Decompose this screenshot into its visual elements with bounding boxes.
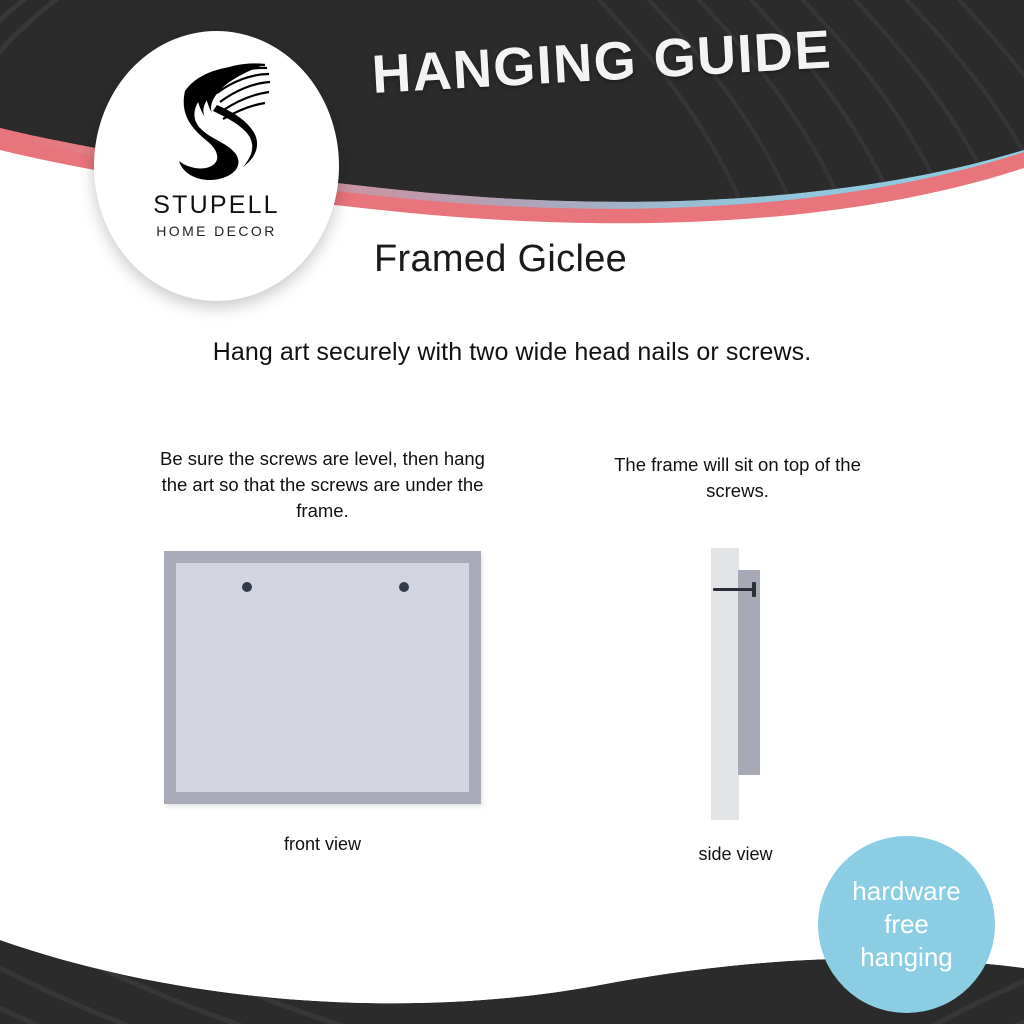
badge-line-2: free <box>884 908 929 941</box>
brand-wordmark: STUPELL <box>153 191 280 220</box>
hardware-free-hanging-badge: hardware free hanging <box>818 836 995 1013</box>
hanging-guide-page: HANGING GUIDE STUPELL HOME DECOR Framed … <box>0 0 1024 1024</box>
badge-line-1: hardware <box>852 875 960 908</box>
front-view-frame-interior <box>176 563 469 792</box>
brand-tagline: HOME DECOR <box>156 223 276 239</box>
side-view-nail-head-icon <box>752 582 756 597</box>
side-view-label: side view <box>648 844 823 865</box>
product-type-label: Framed Giclee <box>374 238 627 281</box>
side-view-caption: The frame will sit on top of the screws. <box>590 452 885 504</box>
badge-line-3: hanging <box>860 941 953 974</box>
stupell-swoosh-icon <box>157 57 277 185</box>
front-view-frame-diagram <box>164 551 481 804</box>
front-view-caption: Be sure the screws are level, then hang … <box>150 446 495 524</box>
screw-dot-right <box>399 582 409 592</box>
side-view-frame <box>738 570 760 775</box>
screw-dot-left <box>242 582 252 592</box>
page-title: HANGING GUIDE <box>370 19 892 102</box>
instruction-headline: Hang art securely with two wide head nai… <box>0 338 1024 367</box>
front-view-label: front view <box>170 834 475 855</box>
brand-logo-badge: STUPELL HOME DECOR <box>94 31 339 301</box>
side-view-nail-shaft-icon <box>713 588 755 591</box>
